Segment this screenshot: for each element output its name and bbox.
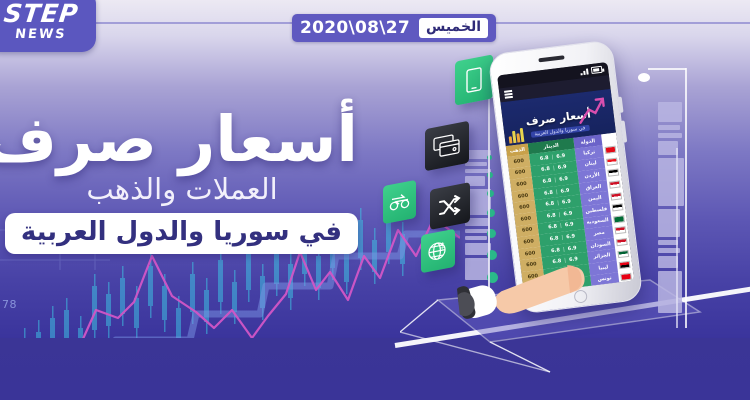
headline-sub: العملات والذهب — [6, 174, 358, 206]
logo-text-news: NEWS — [14, 28, 67, 41]
date-bar: 2020\08\27 الخميس — [292, 14, 496, 42]
headline-main: أسعار صرف — [6, 108, 358, 172]
date-value: 2020\08\27 — [300, 18, 410, 38]
money-exchange-icon — [389, 190, 411, 214]
pointing-hand-illustration — [454, 251, 591, 338]
tile-globe-dollar[interactable]: $ — [421, 229, 455, 274]
tile-shuffle-arrows[interactable] — [430, 182, 470, 230]
tile-mobile-phone[interactable] — [455, 54, 493, 105]
chart-axis-label: 78 — [2, 298, 17, 311]
decorative-frame-top — [648, 68, 686, 70]
svg-text:$: $ — [440, 241, 445, 251]
growth-arrow-icon — [576, 96, 609, 129]
headline-pill: في سوريا والدول العربية — [5, 213, 358, 254]
decorative-frame-inner — [676, 148, 678, 328]
decorative-bars-right — [658, 102, 684, 313]
logo-text-step: STEP — [2, 1, 80, 26]
shuffle-arrows-icon — [438, 193, 462, 220]
banner-canvas: 25 01 78 STEP NEWS 2020\08\27 الخميس أسع… — [0, 0, 750, 400]
phone-side-button-top[interactable] — [618, 97, 624, 113]
hamburger-menu-icon[interactable] — [504, 90, 513, 98]
tile-credit-cards[interactable] — [425, 121, 469, 172]
weekday-badge: الخميس — [419, 18, 488, 38]
headline-group: أسعار صرف العملات والذهب في سوريا والدول… — [6, 108, 358, 254]
tile-money-exchange[interactable] — [383, 180, 416, 224]
coins-icon — [508, 128, 525, 144]
credit-cards-icon — [433, 132, 461, 159]
connector-node-right — [638, 73, 650, 82]
globe-dollar-icon: $ — [427, 238, 449, 264]
signal-bars-icon — [580, 67, 589, 75]
decorative-frame-right — [685, 68, 687, 328]
mobile-phone-icon — [466, 66, 482, 93]
step-news-logo[interactable]: STEP NEWS — [0, 0, 96, 52]
battery-icon — [591, 66, 603, 74]
